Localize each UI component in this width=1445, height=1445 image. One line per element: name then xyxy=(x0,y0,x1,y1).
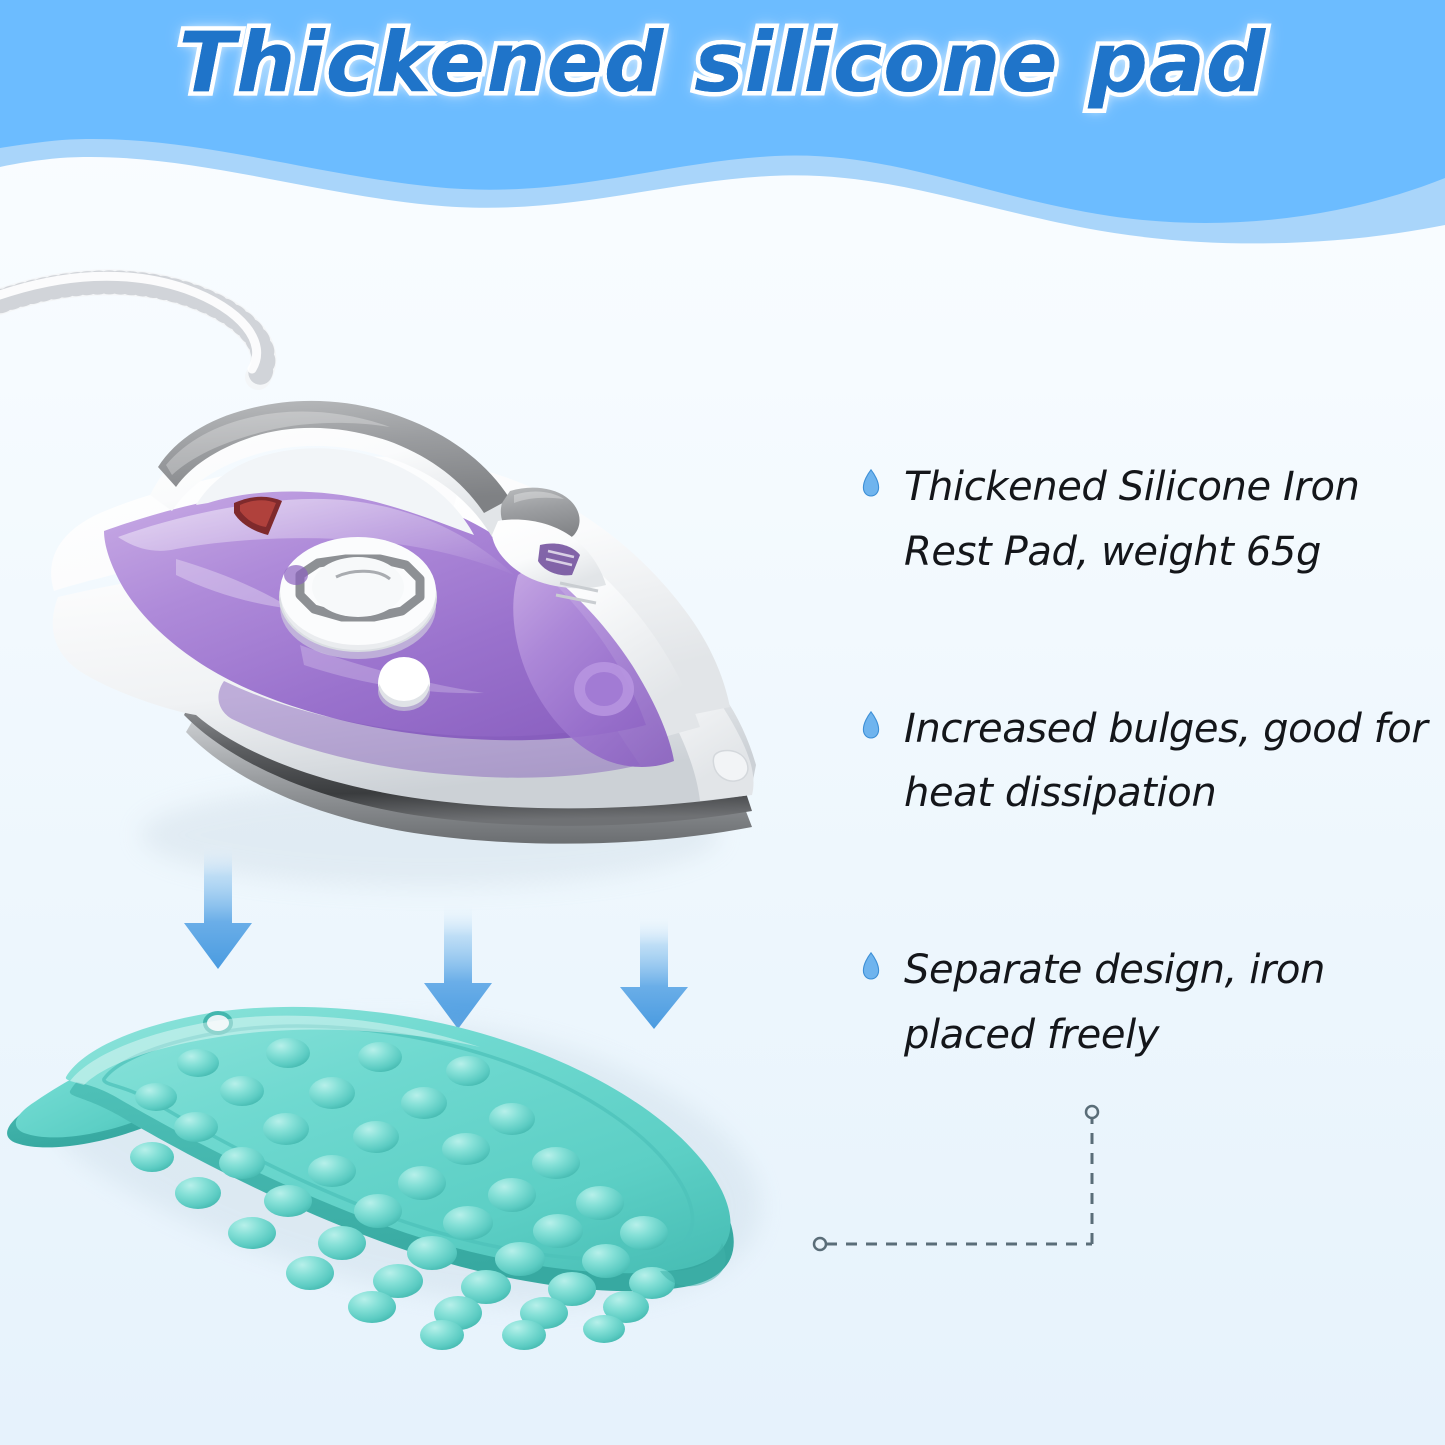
down-arrow-2 xyxy=(424,905,492,1029)
power-cord-group xyxy=(0,276,263,377)
list-item: Thickened Silicone Iron Rest Pad, weight… xyxy=(862,455,1432,585)
iron-dial-cap xyxy=(312,557,404,617)
steam-iron xyxy=(51,401,756,887)
pad-bulge xyxy=(401,1087,447,1119)
pad-bulge xyxy=(495,1242,545,1276)
pad-bulge xyxy=(220,1076,264,1106)
iron-spray-button-top xyxy=(379,657,429,701)
pad-bulge xyxy=(398,1166,446,1200)
pad-bulge xyxy=(488,1178,536,1212)
feature-text: Thickened Silicone Iron Rest Pad, weight… xyxy=(904,455,1432,585)
iron-pad-bullet-icon xyxy=(862,711,880,739)
pad-bulge xyxy=(219,1147,265,1179)
product-infographic: Thickened silicone pad Thickened silicon… xyxy=(0,0,1445,1445)
pad-bulge xyxy=(130,1142,174,1172)
pad-bulge xyxy=(533,1214,583,1248)
down-arrow-3 xyxy=(620,917,688,1029)
pad-bulge xyxy=(420,1320,464,1350)
pad-bulge xyxy=(407,1236,457,1270)
page-title-outline: Thickened silicone pad xyxy=(0,14,1445,111)
pad-bulge xyxy=(576,1186,624,1220)
header-banner: Thickened silicone pad Thickened silicon… xyxy=(0,0,1445,245)
pad-bulge xyxy=(358,1042,402,1072)
pad-bulge xyxy=(309,1077,355,1109)
pad-bulge xyxy=(264,1185,312,1217)
iron-tank-nub xyxy=(284,565,308,585)
pad-bulge xyxy=(353,1121,399,1153)
pad-bulge xyxy=(286,1256,334,1290)
silicone-iron-rest-pad xyxy=(7,1007,761,1350)
pad-bulge xyxy=(308,1155,356,1187)
pad-bulge xyxy=(583,1315,625,1343)
pad-bulge xyxy=(532,1147,580,1179)
pad-bulge xyxy=(489,1103,535,1135)
pad-bulge xyxy=(228,1217,276,1249)
callout-endpoint-marker xyxy=(1086,1106,1098,1118)
callout-endpoint-marker xyxy=(814,1238,826,1250)
pad-bulge xyxy=(446,1056,490,1086)
iron-front-window-dial-inner xyxy=(585,672,623,706)
pad-bulge xyxy=(354,1194,402,1228)
pad-bulge xyxy=(502,1320,546,1350)
dimension-callout xyxy=(790,1090,1150,1290)
feature-text: Increased bulges, good for heat dissipat… xyxy=(904,697,1432,827)
list-item: Increased bulges, good for heat dissipat… xyxy=(862,697,1432,827)
pad-bulge xyxy=(442,1133,490,1165)
pad-bulge xyxy=(443,1206,493,1240)
feature-text: Separate design, iron placed freely xyxy=(904,938,1432,1068)
feature-list: Thickened Silicone Iron Rest Pad, weight… xyxy=(862,455,1432,1068)
pad-bulge xyxy=(174,1112,218,1142)
iron-pad-bullet-icon xyxy=(862,952,880,980)
pad-bulge xyxy=(582,1244,630,1278)
iron-pad-bullet-icon xyxy=(862,469,880,497)
list-item: Separate design, iron placed freely xyxy=(862,938,1432,1068)
pad-bulge xyxy=(620,1216,668,1250)
pad-bulge xyxy=(177,1049,219,1077)
product-illustration xyxy=(0,245,860,1445)
pad-bulge xyxy=(263,1113,309,1145)
pad-bulge xyxy=(135,1083,177,1111)
pad-bulge xyxy=(266,1038,310,1068)
pad-bulge xyxy=(348,1291,396,1323)
pad-bulge xyxy=(175,1177,221,1209)
pad-bulge xyxy=(318,1226,366,1260)
